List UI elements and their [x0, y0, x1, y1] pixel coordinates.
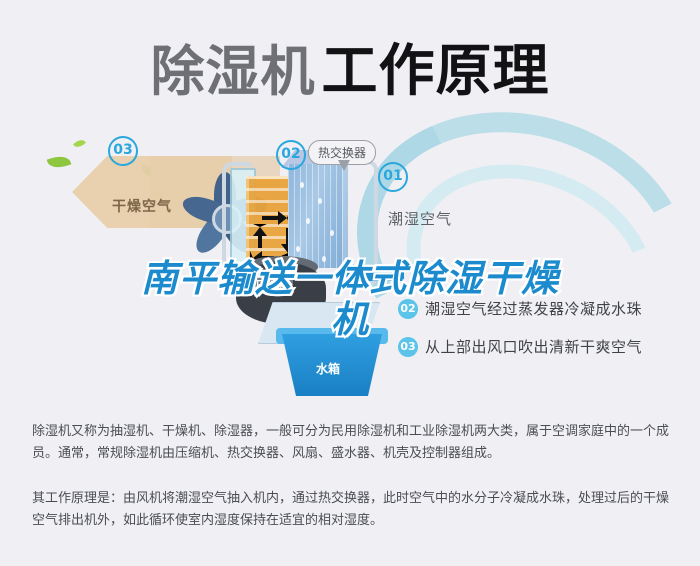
paragraph-text: 其工作原理是：由风机将潮湿空气抽入机内，通过热交换器，此时空气中的水分子冷凝成水… [32, 487, 672, 531]
dry-air-label: 干燥空气 [112, 196, 172, 216]
water-droplet [296, 246, 300, 252]
step-badge: 03 [398, 337, 418, 357]
step-badge: 02 [398, 299, 418, 319]
steps-list: 02 潮湿空气经过蒸发器冷凝成水珠 03 从上部出风口吹出清新干爽空气 [398, 298, 688, 374]
water-droplet [322, 256, 326, 262]
infographic-page: 除湿机工作原理 干燥空气 03 [0, 0, 700, 566]
page-title: 除湿机工作原理 [0, 26, 700, 107]
humid-air-label: 潮湿空气 [388, 208, 452, 229]
leaf-icon [47, 153, 72, 171]
evaporator-fins [288, 164, 348, 268]
water-droplet [300, 182, 304, 188]
water-droplet [306, 218, 310, 224]
water-tank-label: 水箱 [316, 360, 340, 377]
paragraph-text: 除湿机又称为抽湿机、干燥机、除湿器，一般可分为民用除湿机和工业除湿机两大类，属于… [32, 420, 672, 464]
description-paragraph-1: 除湿机又称为抽湿机、干燥机、除湿器，一般可分为民用除湿机和工业除湿机两大类，属于… [32, 420, 672, 464]
description-paragraph-2: 其工作原理是：由风机将潮湿空气抽入机内，通过热交换器，此时空气中的水分子冷凝成水… [32, 487, 672, 531]
callout-badge-02: 02 [276, 140, 306, 170]
step-text: 从上部出风口吹出清新干爽空气 [425, 336, 642, 357]
list-item: 02 潮湿空气经过蒸发器冷凝成水珠 [398, 298, 688, 319]
humid-air-inlet-arrow [352, 270, 404, 281]
page-title-secondary: 工作原理 [322, 39, 550, 102]
airflow-arrow [262, 216, 278, 220]
leaf-icon [73, 137, 86, 149]
water-droplet [318, 198, 322, 204]
callout-badge-03: 03 [108, 136, 138, 166]
compressor-label: 压缩机 [252, 276, 293, 294]
list-item: 03 从上部出风口吹出清新干爽空气 [398, 336, 688, 357]
water-droplet [330, 230, 334, 236]
callout-badge-01: 01 [378, 162, 408, 192]
heat-exchanger-callout-tail [338, 160, 350, 171]
step-text: 潮湿空气经过蒸发器冷凝成水珠 [425, 298, 642, 319]
page-title-primary: 除湿机 [151, 42, 316, 102]
airflow-arrow-head [253, 224, 267, 236]
humid-air-inlet-arrow-head [338, 264, 354, 286]
